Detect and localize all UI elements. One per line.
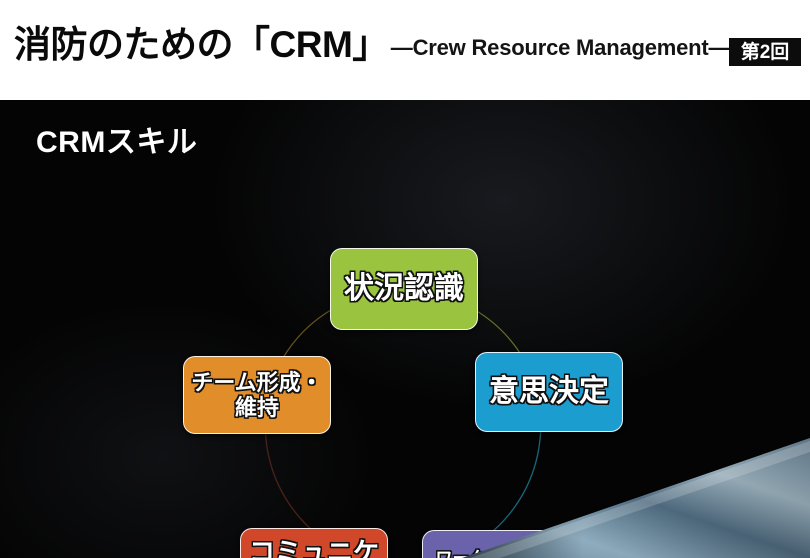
issue-badge: 第2回 <box>729 38 801 66</box>
cycle-node-label: 意思決定 <box>483 375 615 409</box>
header-title-group: 消防のための「CRM」 —Crew Resource Management— <box>14 26 730 63</box>
cycle-node-decision-making[interactable]: 意思決定 <box>475 352 623 432</box>
cycle-node-workload-management[interactable]: ワークロード・ マネジメント <box>422 530 568 558</box>
cycle-node-communication[interactable]: コミュニケ ーション <box>240 528 388 558</box>
cycle-node-team-building[interactable]: チーム形成・ 維持 <box>183 356 331 434</box>
cycle-node-label: チーム形成・ 維持 <box>185 370 328 420</box>
slide-page: 消防のための「CRM」 —Crew Resource Management— 第… <box>0 0 810 558</box>
cycle-node-label: コミュニケ ーション <box>243 538 385 558</box>
article-header: 消防のための「CRM」 —Crew Resource Management— 第… <box>0 0 810 100</box>
issue-badge-label: 第2回 <box>741 43 790 62</box>
cycle-node-situation-awareness[interactable]: 状況認識 <box>330 248 478 330</box>
page-title-jp: 消防のための「CRM」 <box>14 26 389 63</box>
crm-skills-cycle-diagram: 状況認識 意思決定 ワークロード・ マネジメント コミュニケ ーション チーム形… <box>0 100 810 558</box>
cycle-node-label: ワークロード・ マネジメント <box>430 549 561 558</box>
page-title-en: —Crew Resource Management— <box>391 35 731 61</box>
content-panel: CRMスキル 状況認識 意思決定 <box>0 100 810 558</box>
cycle-node-label: 状況認識 <box>338 272 470 306</box>
crm-watermark: CRM <box>600 552 810 558</box>
